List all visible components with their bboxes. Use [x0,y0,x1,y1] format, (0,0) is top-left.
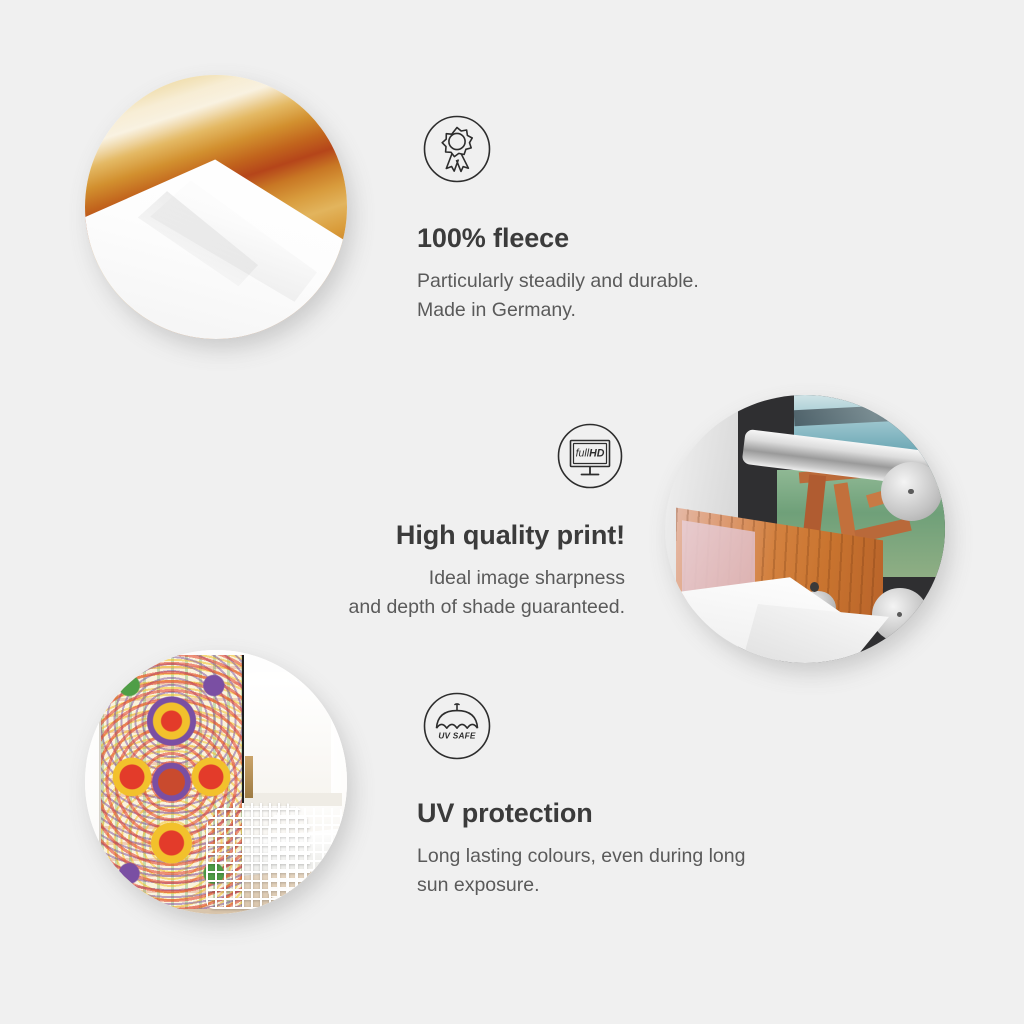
infographic-canvas: 100% fleece Particularly steadily and du… [0,0,1024,1024]
printer-wheel [881,462,943,521]
feature-heading: UV protection [417,798,867,829]
feature-body: Long lasting colours, even during long s… [417,842,867,900]
feature-body-line: Particularly steadily and durable. [417,267,847,296]
room-window [242,682,331,798]
peeling-wallpaper-photo [85,75,347,339]
uv-safe-label: UV SAFE [438,730,476,740]
printer-wheel [872,588,928,642]
feature-body: Particularly steadily and durable. Made … [417,267,847,325]
award-ribbon-icon [422,114,492,184]
candle-holder [245,756,253,798]
uv-safe-umbrella-icon: UV SAFE [421,690,493,762]
fullhd-label: fullHD [576,448,605,460]
feature-body-line: sun exposure. [417,871,867,900]
feature-body: Ideal image sharpness and depth of shade… [195,564,625,622]
feature-text-fleece: 100% fleece Particularly steadily and du… [417,223,847,325]
feature-body-line: Long lasting colours, even during long [417,842,867,871]
feature-body-line: Made in Germany. [417,296,847,325]
mandala-wallpaper-room-photo [85,650,347,914]
feature-text-uv: UV protection Long lasting colours, even… [417,798,867,900]
photo-content [665,395,945,663]
photo-content [85,650,347,914]
feature-body-line: Ideal image sharpness [195,564,625,593]
feature-text-print: High quality print! Ideal image sharpnes… [195,520,625,622]
wire-chair [268,808,347,898]
photo-content [85,75,347,339]
feature-heading: High quality print! [195,520,625,551]
fullhd-monitor-icon: fullHD [556,422,624,490]
feature-heading: 100% fleece [417,223,847,254]
large-format-printer-photo [665,395,945,663]
feature-body-line: and depth of shade guaranteed. [195,593,625,622]
